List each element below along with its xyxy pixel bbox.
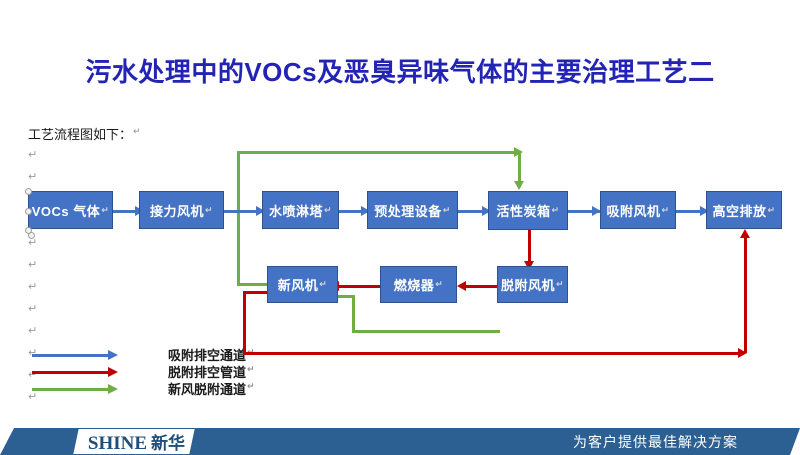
legend-arrowhead-red (108, 367, 118, 377)
node-relay-fan[interactable]: 接力风机↵ (139, 191, 224, 229)
node-label: 活性炭箱 (496, 201, 550, 220)
node-pretreatment[interactable]: 预处理设备↵ (367, 191, 458, 229)
paragraph-mark-icon: ↵ (28, 172, 37, 183)
paragraph-mark-icon: ↵ (247, 381, 255, 391)
legend-label-text: 脱附排空管道 (168, 365, 246, 380)
page-title: 污水处理中的VOCs及恶臭异味气体的主要治理工艺二 (0, 52, 800, 89)
paragraph-mark-icon: ↵ (324, 205, 332, 216)
node-high-altitude-discharge[interactable]: 高空排放↵ (706, 191, 782, 229)
brand-logo: SHINE 新华 (73, 429, 194, 454)
paragraph-mark-icon: ↵ (133, 126, 141, 136)
selection-handle[interactable] (25, 188, 32, 195)
green-line-to-fresh-air-fan (237, 283, 267, 286)
red-arrowhead-return-corner (738, 348, 747, 358)
legend-arrowhead-blue (108, 350, 118, 360)
node-label: 接力风机 (150, 201, 204, 220)
paragraph-mark-icon: ↵ (28, 304, 37, 315)
node-adsorption-fan[interactable]: 吸附风机↵ (600, 191, 676, 229)
paragraph-mark-icon: ↵ (28, 392, 37, 403)
legend-label: 新风脱附通道↵ (168, 379, 255, 398)
legend-arrowhead-green (108, 384, 118, 394)
green-line-bottom-riser (352, 295, 355, 330)
logo-latin-text: SHINE (88, 433, 147, 455)
node-fresh-air-fan[interactable]: 新风机↵ (267, 266, 338, 303)
node-label: 新风机 (278, 275, 319, 294)
selection-handle[interactable] (28, 232, 35, 239)
paragraph-mark-icon: ↵ (28, 260, 37, 271)
node-vocs-gas[interactable]: VOCs 气体↵ (28, 191, 113, 229)
logo-cn-text: 新华 (151, 429, 185, 454)
green-line-top-run (237, 151, 520, 154)
green-line-left-riser (237, 151, 240, 283)
node-water-spray-tower[interactable]: 水喷淋塔↵ (262, 191, 339, 229)
red-line-incinerator-to-fresh-air-fan (338, 285, 380, 288)
paragraph-mark-icon: ↵ (28, 326, 37, 337)
footer-left-notch-icon (0, 428, 14, 455)
node-label: 吸附风机 (606, 201, 660, 220)
red-line-return-run (243, 352, 744, 355)
node-label: 脱附风机 (501, 275, 555, 294)
paragraph-mark-icon: ↵ (551, 205, 559, 216)
slide-page: 污水处理中的VOCs及恶臭异味气体的主要治理工艺二 工艺流程图如下：↵ ↵ ↵ … (0, 0, 800, 455)
red-arrowhead-high-altitude-discharge (740, 229, 750, 238)
paragraph-mark-icon: ↵ (661, 205, 669, 216)
footer-slogan: 为客户提供最佳解决方案 (573, 432, 738, 452)
intro-text: 工艺流程图如下：↵ (28, 124, 141, 143)
paragraph-mark-icon: ↵ (247, 364, 255, 374)
red-line-return-riser (744, 236, 747, 353)
selection-handle[interactable] (25, 208, 32, 215)
legend-label-text: 新风脱附通道 (168, 382, 246, 397)
paragraph-mark-icon: ↵ (319, 279, 327, 290)
node-label: 水喷淋塔 (269, 201, 323, 220)
node-label: 预处理设备 (374, 201, 442, 220)
paragraph-mark-icon: ↵ (101, 205, 109, 216)
footer-right-notch-icon (790, 428, 800, 455)
green-line-bottom-run (352, 330, 500, 333)
paragraph-mark-icon: ↵ (556, 279, 564, 290)
footer-bar: SHINE 新华 为客户提供最佳解决方案 (0, 428, 800, 455)
red-arrowhead-incinerator (457, 281, 466, 291)
red-line-return-drop (243, 291, 246, 352)
node-activated-carbon-box[interactable]: 活性炭箱↵ (488, 191, 568, 230)
legend-line-red (32, 371, 108, 374)
intro-label: 工艺流程图如下： (28, 127, 132, 142)
green-arrowhead-into-carbon-box (514, 181, 524, 190)
paragraph-mark-icon: ↵ (443, 205, 451, 216)
node-desorption-fan[interactable]: 脱附风机↵ (497, 266, 568, 303)
green-arrowhead-top-right (514, 147, 523, 157)
paragraph-mark-icon: ↵ (767, 205, 775, 216)
paragraph-mark-icon: ↵ (205, 205, 213, 216)
red-line-desorption-to-incinerator (465, 285, 497, 288)
paragraph-mark-icon: ↵ (28, 150, 37, 161)
legend-line-blue (32, 354, 108, 357)
paragraph-mark-icon: ↵ (28, 282, 37, 293)
node-label: 燃烧器 (394, 275, 435, 294)
legend-label-text: 吸附排空通道 (168, 348, 246, 363)
paragraph-mark-icon: ↵ (28, 238, 37, 249)
legend-line-green (32, 388, 108, 391)
node-incinerator[interactable]: 燃烧器↵ (380, 266, 457, 303)
node-label: VOCs 气体 (32, 201, 101, 220)
paragraph-mark-icon: ↵ (435, 279, 443, 290)
node-label: 高空排放 (712, 201, 766, 220)
